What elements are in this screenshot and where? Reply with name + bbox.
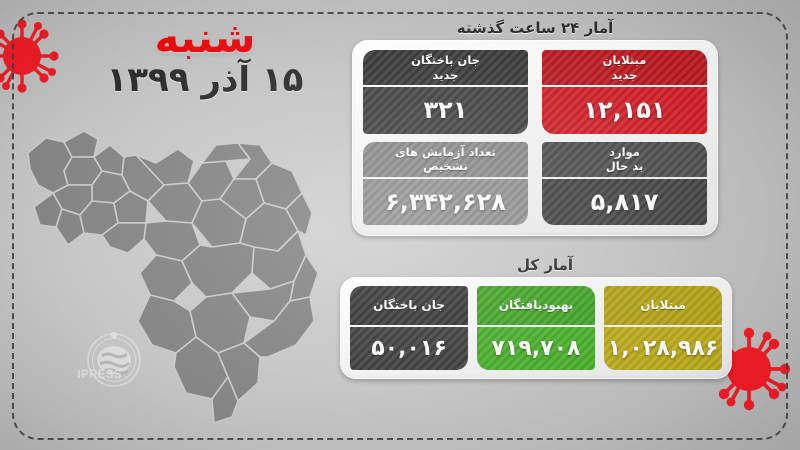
infographic-canvas: IRANPRESS xyxy=(0,0,800,450)
dashed-frame-border xyxy=(12,12,788,440)
